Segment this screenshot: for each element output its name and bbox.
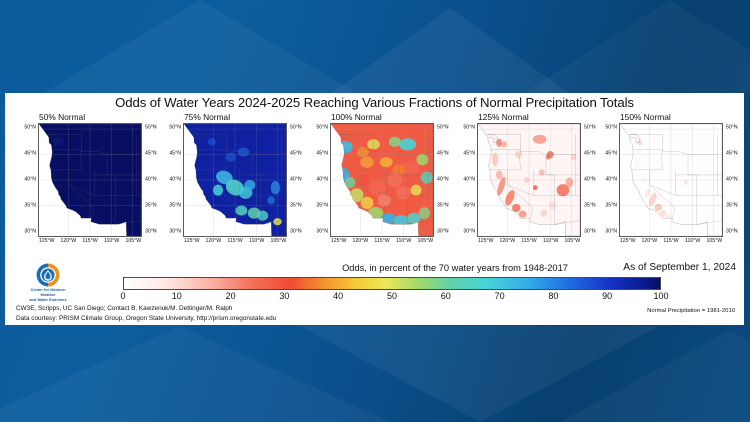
- colorbar-tick-20: 20: [226, 291, 236, 301]
- longitude-tick-label: 115°W: [521, 239, 536, 244]
- latitude-tick-label: 35°N: [24, 203, 36, 208]
- background-triangle: [520, 0, 750, 95]
- latitude-tick-label: 35°N: [169, 203, 181, 208]
- latitude-tick-label: 50°N: [437, 126, 449, 131]
- colorbar-tick-60: 60: [441, 291, 451, 301]
- latitude-tick-label: 40°N: [584, 177, 596, 182]
- background-triangle: [560, 330, 750, 422]
- latitude-tick-label: 35°N: [316, 203, 328, 208]
- longitude-tick-label: 110°W: [543, 239, 558, 244]
- longitude-tick-label: 115°W: [227, 239, 242, 244]
- map-panel-title: 100% Normal: [331, 112, 382, 122]
- latitude-tick-label: 50°N: [145, 126, 157, 131]
- latitude-tick-label: 40°N: [463, 177, 475, 182]
- latitude-tick-label: 40°N: [726, 177, 738, 182]
- longitude-tick-label: 105°W: [418, 239, 434, 244]
- latitude-tick-label: 45°N: [24, 151, 36, 156]
- map-raster: [184, 124, 286, 236]
- colorbar-tick-30: 30: [279, 291, 289, 301]
- map-panel-row: 50% Normal50°N45°N40°N35°N30°N50°N45°N40…: [5, 114, 744, 256]
- longitude-tick-label: 105°W: [271, 239, 287, 244]
- longitude-tick-label: 125°W: [478, 239, 494, 244]
- map-plot-area: [38, 123, 142, 237]
- latitude-tick-label: 30°N: [290, 229, 302, 234]
- latitude-tick-label: 45°N: [437, 151, 449, 156]
- longitude-tick-label: 105°W: [707, 239, 723, 244]
- longitude-tick-label: 110°W: [249, 239, 264, 244]
- latitude-tick-label: 30°N: [584, 229, 596, 234]
- map-panel-100-percent: 100% Normal50°N45°N40°N35°N30°N50°N45°N4…: [308, 114, 448, 256]
- map-panel-title: 125% Normal: [478, 112, 529, 122]
- map-panel-50-percent: 50% Normal50°N45°N40°N35°N30°N50°N45°N40…: [16, 114, 156, 256]
- longitude-tick-label: 115°W: [374, 239, 389, 244]
- colorbar-tick-labels: 0102030405060708090100: [123, 291, 661, 303]
- map-panel-125-percent: 125% Normal50°N45°N40°N35°N30°N50°N45°N4…: [455, 114, 595, 256]
- longitude-tick-label: 125°W: [331, 239, 347, 244]
- latitude-tick-label: 50°N: [726, 126, 738, 131]
- latitude-tick-label: 50°N: [24, 126, 36, 131]
- normal-precipitation-definition: Normal Precipitation = 1981-2010: [647, 308, 735, 314]
- colorbar-tick-40: 40: [333, 291, 343, 301]
- map-raster: [331, 124, 433, 236]
- latitude-tick-label: 45°N: [726, 151, 738, 156]
- latitude-tick-label: 40°N: [24, 177, 36, 182]
- latitude-axis-left: 50°N45°N40°N35°N30°N: [597, 123, 618, 237]
- latitude-tick-label: 30°N: [605, 229, 617, 234]
- figure-card: Odds of Water Years 2024-2025 Reaching V…: [5, 93, 744, 325]
- latitude-tick-label: 50°N: [584, 126, 596, 131]
- colorbar-tick-0: 0: [120, 291, 125, 301]
- latitude-axis-right: 50°N45°N40°N35°N30°N: [142, 123, 163, 237]
- latitude-tick-label: 50°N: [463, 126, 475, 131]
- longitude-tick-label: 125°W: [184, 239, 200, 244]
- credit-line-2: Data courtesy: PRISM Climate Group, Oreg…: [16, 314, 276, 324]
- latitude-tick-label: 45°N: [316, 151, 328, 156]
- longitude-tick-label: 105°W: [565, 239, 581, 244]
- latitude-tick-label: 40°N: [437, 177, 449, 182]
- latitude-tick-label: 35°N: [584, 203, 596, 208]
- colorbar-heading: Odds, in percent of the 70 water years f…: [245, 263, 665, 273]
- map-plot-area: [183, 123, 287, 237]
- longitude-tick-label: 120°W: [61, 239, 77, 244]
- cw3e-logo: Center for Western Weather and Water Ext…: [23, 262, 73, 302]
- latitude-tick-label: 40°N: [169, 177, 181, 182]
- latitude-tick-label: 35°N: [463, 203, 475, 208]
- latitude-tick-label: 50°N: [605, 126, 617, 131]
- latitude-tick-label: 30°N: [437, 229, 449, 234]
- background-triangle: [330, 8, 570, 94]
- latitude-tick-label: 35°N: [437, 203, 449, 208]
- latitude-tick-label: 40°N: [316, 177, 328, 182]
- colorbar-tick-80: 80: [548, 291, 558, 301]
- latitude-axis-right: 50°N45°N40°N35°N30°N: [287, 123, 308, 237]
- logo-caption-line-2: and Water Extremes: [23, 298, 73, 303]
- map-panel-150-percent: 150% Normal50°N45°N40°N35°N30°N50°N45°N4…: [597, 114, 737, 256]
- latitude-tick-label: 50°N: [316, 126, 328, 131]
- colorbar-tick-50: 50: [387, 291, 397, 301]
- latitude-tick-label: 30°N: [316, 229, 328, 234]
- latitude-axis-left: 50°N45°N40°N35°N30°N: [16, 123, 37, 237]
- colorbar: [123, 277, 661, 290]
- map-raster: [478, 124, 580, 236]
- latitude-axis-left: 50°N45°N40°N35°N30°N: [455, 123, 476, 237]
- credits: CW3E, Scripps, UC San Diego; Contact B. …: [16, 304, 276, 323]
- map-raster: [39, 124, 141, 236]
- latitude-tick-label: 40°N: [290, 177, 302, 182]
- latitude-axis-right: 50°N45°N40°N35°N30°N: [434, 123, 455, 237]
- latitude-tick-label: 45°N: [145, 151, 157, 156]
- latitude-tick-label: 45°N: [290, 151, 302, 156]
- latitude-tick-label: 45°N: [605, 151, 617, 156]
- latitude-tick-label: 30°N: [169, 229, 181, 234]
- latitude-tick-label: 40°N: [145, 177, 157, 182]
- colorbar-tick-90: 90: [602, 291, 612, 301]
- latitude-tick-label: 45°N: [584, 151, 596, 156]
- longitude-tick-label: 125°W: [39, 239, 55, 244]
- colorbar-tick-70: 70: [495, 291, 505, 301]
- longitude-tick-label: 105°W: [126, 239, 142, 244]
- longitude-tick-label: 120°W: [206, 239, 222, 244]
- latitude-tick-label: 30°N: [145, 229, 157, 234]
- latitude-tick-label: 50°N: [290, 126, 302, 131]
- colorbar-tick-100: 100: [653, 291, 668, 301]
- latitude-tick-label: 35°N: [290, 203, 302, 208]
- latitude-tick-label: 50°N: [169, 126, 181, 131]
- longitude-tick-label: 110°W: [396, 239, 411, 244]
- latitude-axis-left: 50°N45°N40°N35°N30°N: [308, 123, 329, 237]
- longitude-tick-label: 110°W: [104, 239, 119, 244]
- background-triangle: [300, 326, 660, 422]
- latitude-tick-label: 30°N: [463, 229, 475, 234]
- background-triangle: [0, 326, 390, 422]
- longitude-tick-label: 110°W: [685, 239, 700, 244]
- map-plot-area: [619, 123, 723, 237]
- latitude-axis-left: 50°N45°N40°N35°N30°N: [161, 123, 182, 237]
- latitude-tick-label: 30°N: [24, 229, 36, 234]
- longitude-tick-label: 115°W: [82, 239, 97, 244]
- map-plot-area: [330, 123, 434, 237]
- map-panel-75-percent: 75% Normal50°N45°N40°N35°N30°N50°N45°N40…: [161, 114, 301, 256]
- credit-line-1: CW3E, Scripps, UC San Diego; Contact B. …: [16, 304, 276, 314]
- latitude-tick-label: 45°N: [463, 151, 475, 156]
- colorbar-tick-10: 10: [172, 291, 182, 301]
- latitude-tick-label: 35°N: [605, 203, 617, 208]
- latitude-tick-label: 35°N: [726, 203, 738, 208]
- longitude-tick-label: 120°W: [500, 239, 516, 244]
- logo-caption: Center for Western Weather and Water Ext…: [23, 288, 73, 303]
- map-raster: [620, 124, 722, 236]
- figure-title: Odds of Water Years 2024-2025 Reaching V…: [5, 95, 744, 110]
- map-panel-title: 75% Normal: [184, 112, 230, 122]
- longitude-tick-label: 120°W: [642, 239, 658, 244]
- background-triangle: [40, 0, 360, 95]
- latitude-tick-label: 30°N: [726, 229, 738, 234]
- longitude-tick-label: 125°W: [620, 239, 636, 244]
- longitude-tick-label: 120°W: [353, 239, 369, 244]
- map-panel-title: 150% Normal: [620, 112, 671, 122]
- latitude-axis-right: 50°N45°N40°N35°N30°N: [723, 123, 744, 237]
- latitude-tick-label: 45°N: [169, 151, 181, 156]
- latitude-tick-label: 40°N: [605, 177, 617, 182]
- map-plot-area: [477, 123, 581, 237]
- map-panel-title: 50% Normal: [39, 112, 85, 122]
- water-drop-icon: [35, 262, 61, 288]
- longitude-tick-label: 115°W: [663, 239, 678, 244]
- as-of-date: As of September 1, 2024: [623, 262, 736, 273]
- latitude-tick-label: 35°N: [145, 203, 157, 208]
